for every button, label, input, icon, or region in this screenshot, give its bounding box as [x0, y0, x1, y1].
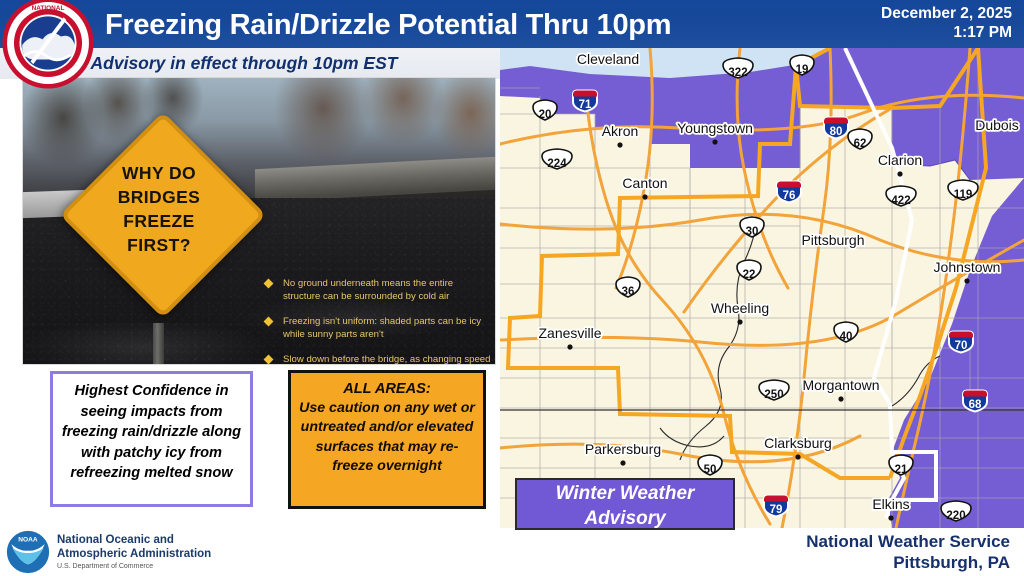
- map-svg: ClevelandAkronYoungstownCantonClarionDub…: [500, 48, 1024, 528]
- noaa-line-1: National Oceanic and: [57, 534, 211, 548]
- map-city-label: Youngstown: [677, 120, 753, 136]
- shield-label: 322: [728, 67, 747, 79]
- list-item: No ground underneath means the entire st…: [263, 278, 491, 303]
- highway-shield-icon: 80: [824, 118, 848, 139]
- shield-label: 50: [704, 464, 717, 476]
- highway-shield-icon: 68: [963, 391, 987, 412]
- shield-label: 36: [622, 286, 635, 298]
- svg-text:NATIONAL: NATIONAL: [32, 5, 65, 12]
- page-title: Freezing Rain/Drizzle Potential Thru 10p…: [105, 6, 805, 46]
- map-city-label: Dubois: [975, 117, 1019, 133]
- shield-label: 422: [891, 195, 910, 207]
- highway-shield-icon: 70: [949, 332, 973, 353]
- map-city-label: Akron: [602, 123, 639, 139]
- all-areas-text: Use caution on any wet or untreated and/…: [297, 399, 477, 477]
- map-city-dot: [888, 515, 893, 520]
- bridge-freeze-sign: WHY DO BRIDGES FREEZE FIRST?: [61, 113, 257, 309]
- legend-text: Winter Weather Advisory: [517, 480, 733, 531]
- confidence-callout: Highest Confidence in seeing impacts fro…: [50, 371, 253, 507]
- shield-label: 62: [854, 138, 867, 150]
- legend-line-1: Winter Weather: [517, 481, 733, 506]
- map-city-dot: [838, 396, 843, 401]
- shield-label: 79: [770, 504, 783, 516]
- diamond-bullet-icon: [264, 317, 274, 327]
- weather-graphic: NATIONAL Freezing Rain/Drizzle Potential…: [0, 0, 1024, 576]
- shield-label: 80: [830, 126, 843, 138]
- sign-line-2: BRIDGES: [61, 185, 257, 209]
- shield-label: 71: [579, 99, 592, 111]
- map-city-label: Cleveland: [577, 51, 639, 67]
- bullet-text: Freezing isn't uniform: shaded parts can…: [283, 316, 481, 340]
- shield-label: 224: [547, 158, 567, 170]
- map-city-dot: [795, 454, 800, 459]
- shield-label: 119: [954, 189, 973, 201]
- map-city-dot: [617, 142, 622, 147]
- noaa-department: U.S. Department of Commerce: [57, 563, 153, 570]
- highway-shield-icon: 71: [573, 91, 597, 112]
- map-city-dot: [737, 319, 742, 324]
- legend-winter-weather-advisory: Winter Weather Advisory: [515, 478, 735, 530]
- diamond-bullet-icon: [264, 279, 274, 289]
- map-city-label: Elkins: [872, 496, 909, 512]
- shield-label: 68: [969, 399, 982, 411]
- sign-line-1: WHY DO: [61, 161, 257, 185]
- shield-label: 250: [764, 389, 783, 401]
- diamond-bullet-icon: [264, 355, 274, 365]
- all-areas-title: ALL AREAS:: [297, 379, 477, 399]
- bullet-text: No ground underneath means the entire st…: [283, 278, 453, 302]
- shield-label: 76: [783, 190, 796, 202]
- noaa-logo-icon: NOAA: [6, 530, 50, 574]
- list-item: Slow down before the bridge, as changing…: [263, 354, 491, 365]
- map-city-dot: [642, 194, 647, 199]
- photo-bullet-list: No ground underneath means the entire st…: [263, 278, 491, 365]
- map-city-label: Wheeling: [711, 300, 769, 316]
- sign-post: [153, 323, 164, 365]
- svg-text:NOAA: NOAA: [18, 536, 38, 543]
- map-city-dot: [712, 139, 717, 144]
- noaa-agency-name: National Oceanic and Atmospheric Adminis…: [57, 534, 211, 561]
- shield-label: 30: [746, 226, 759, 238]
- map-city-label: Canton: [622, 175, 667, 191]
- map-city-dot: [620, 460, 625, 465]
- shield-label: 220: [946, 510, 965, 522]
- bridge-photo: WHY DO BRIDGES FREEZE FIRST? No ground u…: [22, 77, 496, 365]
- noaa-line-2: Atmospheric Administration: [57, 548, 211, 562]
- office-name: National Weather Service: [806, 531, 1010, 552]
- office-location: Pittsburgh, PA: [806, 552, 1010, 573]
- bullet-text: Slow down before the bridge, as changing…: [283, 354, 490, 365]
- map-city-dot: [897, 171, 902, 176]
- confidence-text: Highest Confidence in seeing impacts fro…: [61, 381, 242, 484]
- sign-line-3: FREEZE: [61, 209, 257, 233]
- map-city-label: Morgantown: [802, 377, 879, 393]
- office-credit: National Weather Service Pittsburgh, PA: [806, 531, 1010, 573]
- map-city-label: Johnstown: [934, 259, 1001, 275]
- advisory-map[interactable]: ClevelandAkronYoungstownCantonClarionDub…: [500, 48, 1024, 528]
- shield-label: 22: [743, 269, 756, 281]
- shield-label: 40: [840, 331, 853, 343]
- map-city-label: Pittsburgh: [801, 232, 864, 248]
- sign-text: WHY DO BRIDGES FREEZE FIRST?: [61, 161, 257, 257]
- map-city-label: Clarion: [878, 152, 922, 168]
- highway-shield-icon: 76: [777, 182, 801, 203]
- map-city-dot: [567, 344, 572, 349]
- shield-label: 70: [955, 340, 968, 352]
- issue-date: December 2, 2025: [792, 4, 1012, 23]
- issue-time: 1:17 PM: [792, 23, 1012, 42]
- list-item: Freezing isn't uniform: shaded parts can…: [263, 316, 491, 341]
- all-areas-callout: ALL AREAS: Use caution on any wet or unt…: [288, 370, 486, 509]
- shield-label: 19: [796, 64, 809, 76]
- sign-line-4: FIRST?: [61, 233, 257, 257]
- map-city-label: Zanesville: [538, 325, 601, 341]
- highway-shield-icon: 79: [764, 496, 788, 517]
- shield-label: 21: [895, 464, 908, 476]
- map-city-label: Clarksburg: [764, 435, 832, 451]
- legend-line-2: Advisory: [517, 506, 733, 531]
- shield-label: 20: [539, 109, 552, 121]
- map-city-label: Parkersburg: [585, 441, 661, 457]
- nws-roundel-icon: NATIONAL: [2, 0, 94, 89]
- timestamp: December 2, 2025 1:17 PM: [792, 4, 1012, 42]
- map-city-dot: [964, 278, 969, 283]
